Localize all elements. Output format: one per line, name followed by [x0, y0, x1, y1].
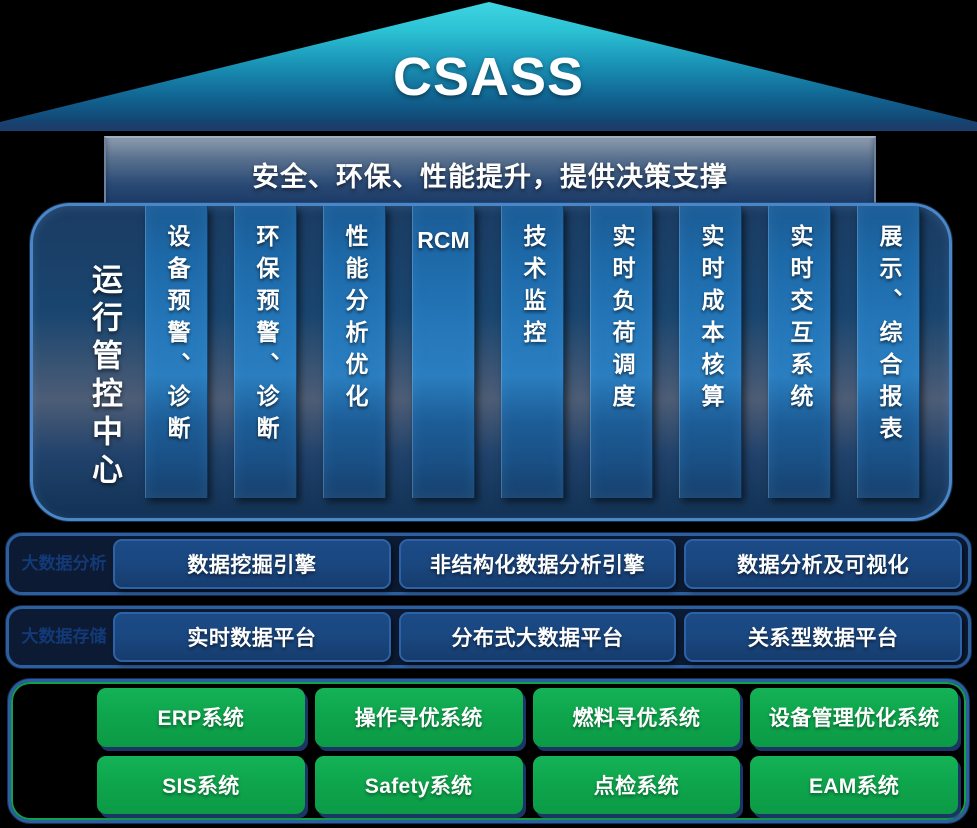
pillar-section: 运行管控中心 设备预警、诊断 环保预警、诊断 性能分析优化 RCM 技术监控 实…: [30, 203, 952, 521]
pillar-list: 设备预警、诊断 环保预警、诊断 性能分析优化 RCM 技术监控 实时负荷调度 实…: [145, 206, 945, 498]
pillar-label: 性能分析优化: [343, 224, 366, 416]
data-box[interactable]: 实时数据平台: [113, 612, 391, 662]
application-box[interactable]: SIS系统: [97, 756, 305, 815]
pillar-label: 技术监控: [521, 224, 544, 352]
pillar-item[interactable]: 实时成本核算: [679, 206, 742, 498]
pillar-label: RCM: [417, 224, 469, 257]
value-proposition-banner: 安全、环保、性能提升，提供决策支撑: [104, 136, 876, 210]
application-box[interactable]: 设备管理优化系统: [750, 688, 958, 747]
banner-text: 安全、环保、性能提升，提供决策支撑: [252, 155, 728, 194]
application-box[interactable]: 操作寻优系统: [315, 688, 523, 747]
layer-label-analysis: 大数据分析: [15, 538, 113, 590]
application-box[interactable]: ERP系统: [97, 688, 305, 747]
architecture-diagram: CSASS 安全、环保、性能提升，提供决策支撑 运行管控中心 设备预警、诊断 环…: [0, 0, 977, 828]
big-data-analysis-layer: 大数据分析 数据挖掘引擎 非结构化数据分析引擎 数据分析及可视化: [6, 533, 971, 595]
storage-box-list: 实时数据平台 分布式大数据平台 关系型数据平台: [113, 612, 962, 662]
pillar-item[interactable]: 实时负荷调度: [590, 206, 653, 498]
pillar-label: 展示、综合报表: [877, 224, 900, 448]
pillar-label: 实时负荷调度: [610, 224, 633, 416]
pillar-item[interactable]: RCM: [412, 206, 475, 498]
pillar-item[interactable]: 设备预警、诊断: [145, 206, 208, 498]
layer-label-storage: 大数据存储: [15, 611, 113, 663]
pillar-item[interactable]: 环保预警、诊断: [234, 206, 297, 498]
data-box[interactable]: 关系型数据平台: [684, 612, 962, 662]
pillar-item[interactable]: 技术监控: [501, 206, 564, 498]
data-box[interactable]: 分布式大数据平台: [399, 612, 677, 662]
data-box[interactable]: 非结构化数据分析引擎: [399, 539, 677, 589]
pillar-label: 设备预警、诊断: [165, 224, 188, 448]
application-box-list: ERP系统 操作寻优系统 燃料寻优系统 设备管理优化系统 SIS系统 Safet…: [97, 688, 958, 814]
application-systems-layer: ERP系统 操作寻优系统 燃料寻优系统 设备管理优化系统 SIS系统 Safet…: [8, 679, 969, 823]
big-data-storage-layer: 大数据存储 实时数据平台 分布式大数据平台 关系型数据平台: [6, 606, 971, 668]
app-layer-label-slot: [17, 688, 97, 814]
application-box[interactable]: 点检系统: [533, 756, 741, 815]
pillar-item[interactable]: 性能分析优化: [323, 206, 386, 498]
pillar-label: 环保预警、诊断: [254, 224, 277, 448]
page-title: CSASS: [0, 46, 977, 108]
roof-shape: CSASS: [0, 0, 977, 136]
pillar-item[interactable]: 展示、综合报表: [857, 206, 920, 498]
analysis-box-list: 数据挖掘引擎 非结构化数据分析引擎 数据分析及可视化: [113, 539, 962, 589]
application-box[interactable]: Safety系统: [315, 756, 523, 815]
application-box[interactable]: 燃料寻优系统: [533, 688, 741, 747]
pillar-label: 实时交互系统: [788, 224, 811, 416]
application-box[interactable]: EAM系统: [750, 756, 958, 815]
data-box[interactable]: 数据挖掘引擎: [113, 539, 391, 589]
operations-center-label: 运行管控中心: [57, 216, 127, 516]
data-box[interactable]: 数据分析及可视化: [684, 539, 962, 589]
pillar-item[interactable]: 实时交互系统: [768, 206, 831, 498]
pillar-label: 实时成本核算: [699, 224, 722, 416]
